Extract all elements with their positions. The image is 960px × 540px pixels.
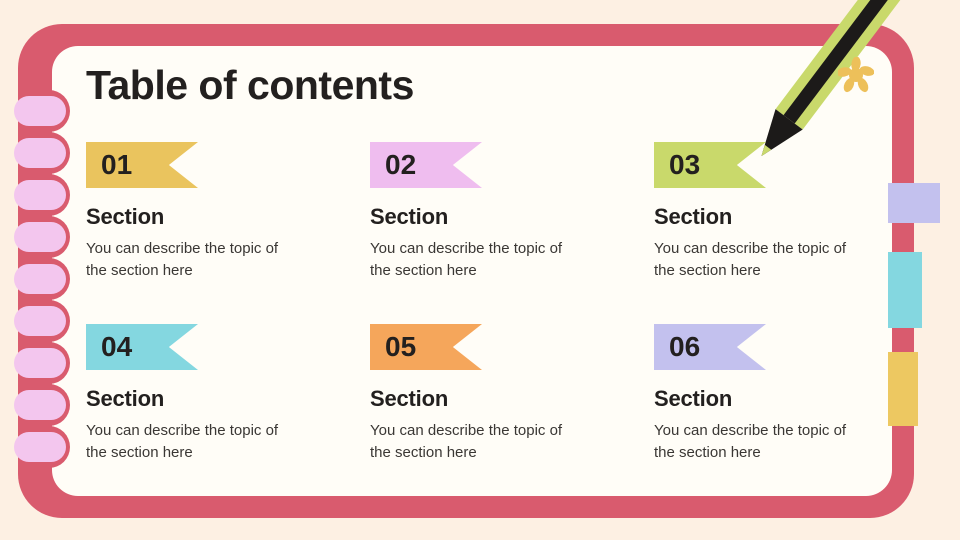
toc-entry[interactable]: 03SectionYou can describe the topic of t… (654, 142, 886, 324)
toc-entry-description: You can describe the topic of the sectio… (654, 420, 869, 464)
toc-entry-title: Section (86, 204, 370, 230)
toc-ribbon: 03 (654, 142, 766, 188)
toc-entry-description: You can describe the topic of the sectio… (86, 238, 301, 282)
toc-ribbon: 05 (370, 324, 482, 370)
toc-entry[interactable]: 01SectionYou can describe the topic of t… (86, 142, 370, 324)
toc-entry-title: Section (86, 386, 370, 412)
toc-ribbon: 04 (86, 324, 198, 370)
toc-ribbon: 02 (370, 142, 482, 188)
slide-canvas: Table of contents 01SectionYou can descr… (0, 0, 960, 540)
toc-entry[interactable]: 06SectionYou can describe the topic of t… (654, 324, 886, 506)
toc-ribbon: 01 (86, 142, 198, 188)
toc-entry-description: You can describe the topic of the sectio… (86, 420, 301, 464)
toc-entry-number: 03 (669, 149, 700, 181)
side-tab-yellow[interactable] (888, 352, 918, 426)
toc-entry[interactable]: 04SectionYou can describe the topic of t… (86, 324, 370, 506)
toc-entry[interactable]: 02SectionYou can describe the topic of t… (370, 142, 654, 324)
toc-entry-number: 06 (669, 331, 700, 363)
toc-entry-number: 02 (385, 149, 416, 181)
side-tab-cyan[interactable] (888, 252, 922, 328)
toc-entry-description: You can describe the topic of the sectio… (654, 238, 869, 282)
toc-entry-title: Section (654, 386, 886, 412)
toc-entry-description: You can describe the topic of the sectio… (370, 420, 585, 464)
toc-entry-number: 01 (101, 149, 132, 181)
page-title: Table of contents (86, 62, 414, 109)
asterisk-flower-icon (838, 57, 874, 93)
toc-entry-title: Section (654, 204, 886, 230)
side-tab-lavender[interactable] (888, 183, 940, 223)
toc-entry-title: Section (370, 204, 654, 230)
toc-entry-title: Section (370, 386, 654, 412)
toc-entry-number: 05 (385, 331, 416, 363)
toc-ribbon: 06 (654, 324, 766, 370)
toc-entry-description: You can describe the topic of the sectio… (370, 238, 585, 282)
toc-entry-number: 04 (101, 331, 132, 363)
toc-entry[interactable]: 05SectionYou can describe the topic of t… (370, 324, 654, 506)
toc-grid: 01SectionYou can describe the topic of t… (86, 142, 886, 506)
